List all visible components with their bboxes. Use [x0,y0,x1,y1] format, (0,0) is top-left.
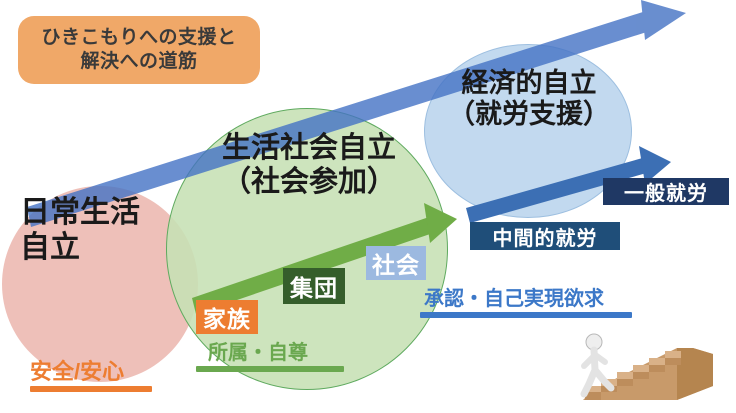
need-recognition-label: 承認・自己実現欲求 [420,288,632,310]
person-icon [584,334,611,394]
tag-family-label: 家族 [203,300,251,334]
need-belonging: 所属・自尊 [196,342,344,372]
need-belonging-underline [196,366,344,372]
need-safety-label: 安全/安心 [30,360,152,384]
circle-economic-label: 経済的自立 （就労支援） [424,68,634,131]
tag-general-work: 一般就労 [603,178,729,205]
circle-social-life-label: 生活社会自立 （社会参加） [166,132,452,199]
title-line-1: ひきこもりへの支援と [41,26,236,50]
person-climbing-stairs-icon [565,328,717,410]
circle-economic-label-line1: 経済的自立 [424,68,634,99]
circle-social-life-label-line2: （社会参加） [166,166,452,200]
tag-intermediate-work-label: 中間的就労 [493,222,598,251]
need-recognition: 承認・自己実現欲求 [420,288,632,318]
diagram-canvas: 日常生活 自立 生活社会自立 （社会参加） 経済的自立 （就労支援） ひきこもり… [0,0,736,413]
need-recognition-underline [420,312,632,318]
need-belonging-label: 所属・自尊 [196,342,344,364]
circle-daily-life-label-line1: 日常生活 [20,196,196,231]
circle-economic-label-line2: （就労支援） [424,99,634,130]
need-safety-underline [30,386,152,392]
tag-society: 社会 [366,246,426,280]
tag-general-work-label: 一般就労 [624,177,708,206]
tag-group-label: 集団 [290,269,338,303]
circle-daily-life-label-line2: 自立 [20,231,196,266]
tag-group: 集団 [283,268,345,304]
circle-social-life-label-line1: 生活社会自立 [166,132,452,166]
tag-intermediate-work: 中間的就労 [470,222,620,250]
title-line-2: 解決への道筋 [80,50,197,74]
circle-daily-life-label: 日常生活 自立 [10,196,196,266]
tag-society-label: 社会 [372,246,420,280]
need-safety: 安全/安心 [30,360,152,392]
tag-family: 家族 [196,300,258,334]
title-banner: ひきこもりへの支援と 解決への道筋 [18,16,260,84]
